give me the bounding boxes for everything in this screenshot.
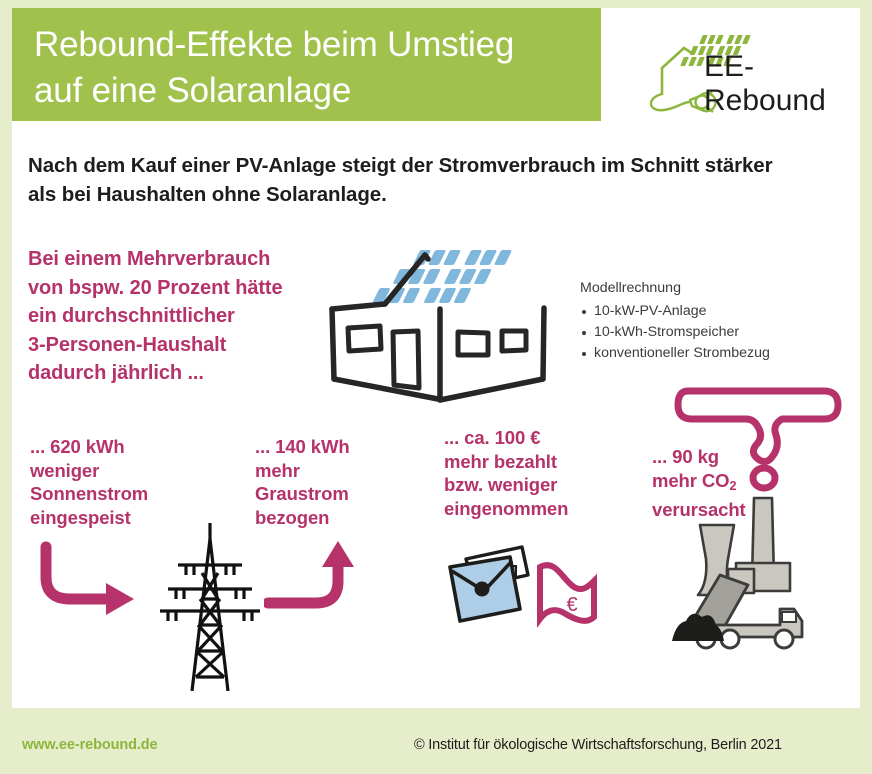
stat-grid-electricity-line-3: Graustrom xyxy=(255,482,425,506)
page-title-line-2: auf eine Solaranlage xyxy=(34,68,594,114)
stat-solar-feed-in-line-1: ... 620 kWh xyxy=(30,435,230,459)
lead-line-2: als bei Haushalten ohne Solaranlage. xyxy=(28,180,818,209)
footer-website-link[interactable]: www.ee-rebound.de xyxy=(22,737,158,753)
model-item-list: 10-kW-PV-Anlage 10-kWh-Stromspeicher kon… xyxy=(580,301,820,364)
model-calculation-box: Modellrechnung 10-kW-PV-Anlage 10-kWh-St… xyxy=(580,278,820,364)
list-item: 10-kW-PV-Anlage xyxy=(580,301,820,322)
list-item: konventioneller Strombezug xyxy=(580,343,820,364)
stat-money-line-3: bzw. weniger xyxy=(444,473,634,497)
stat-grid-electricity-line-4: bezogen xyxy=(255,506,425,530)
stat-solar-feed-in-line-2: weniger xyxy=(30,459,230,483)
house-with-solar-roof-illustration xyxy=(312,236,582,421)
stat-grid-electricity-line-2: mehr xyxy=(255,459,425,483)
lead-paragraph: Nach dem Kauf einer PV-Anlage steigt der… xyxy=(28,151,818,209)
curved-arrow-down-right-icon xyxy=(34,541,150,623)
ee-rebound-logo[interactable]: EE-Rebound xyxy=(632,22,854,118)
stat-money: ... ca. 100 € mehr bezahlt bzw. weniger … xyxy=(444,426,634,520)
infographic-page: Rebound-Effekte beim Umstieg auf eine So… xyxy=(0,0,872,774)
stat-money-line-4: eingenommen xyxy=(444,497,634,521)
content-card: Rebound-Effekte beim Umstieg auf eine So… xyxy=(12,8,860,708)
intro-line-2: von bspw. 20 Prozent hätte xyxy=(28,274,318,303)
stat-solar-feed-in-line-3: Sonnenstrom xyxy=(30,482,230,506)
stat-money-line-1: ... ca. 100 € xyxy=(444,426,634,450)
stat-grid-electricity: ... 140 kWh mehr Graustrom bezogen xyxy=(255,435,425,529)
stat-solar-feed-in: ... 620 kWh weniger Sonnenstrom eingespe… xyxy=(30,435,230,529)
intro-paragraph: Bei einem Mehrverbrauch von bspw. 20 Pro… xyxy=(28,245,318,388)
intro-line-3: ein durchschnittlicher xyxy=(28,302,318,331)
page-title: Rebound-Effekte beim Umstieg auf eine So… xyxy=(34,22,594,114)
svg-text:€: € xyxy=(566,594,577,616)
stat-grid-electricity-line-1: ... 140 kWh xyxy=(255,435,425,459)
intro-line-5: dadurch jährlich ... xyxy=(28,359,318,388)
intro-line-4: 3-Personen-Haushalt xyxy=(28,331,318,360)
coal-power-plant-with-truck-illustration xyxy=(672,373,862,663)
electricity-pylon-illustration xyxy=(140,521,280,691)
intro-line-1: Bei einem Mehrverbrauch xyxy=(28,245,318,274)
lead-line-1: Nach dem Kauf einer PV-Anlage steigt der… xyxy=(28,151,818,180)
logo-text: EE-Rebound xyxy=(704,50,854,118)
footer-copyright: © Institut für ökologische Wirtschaftsfo… xyxy=(414,737,782,753)
wallet-with-banknotes-illustration: € € xyxy=(444,533,624,653)
model-title: Modellrechnung xyxy=(580,278,820,299)
stat-money-line-2: mehr bezahlt xyxy=(444,450,634,474)
page-title-line-1: Rebound-Effekte beim Umstieg xyxy=(34,22,594,68)
curved-arrow-right-up-icon xyxy=(264,541,380,623)
list-item: 10-kWh-Stromspeicher xyxy=(580,322,820,343)
